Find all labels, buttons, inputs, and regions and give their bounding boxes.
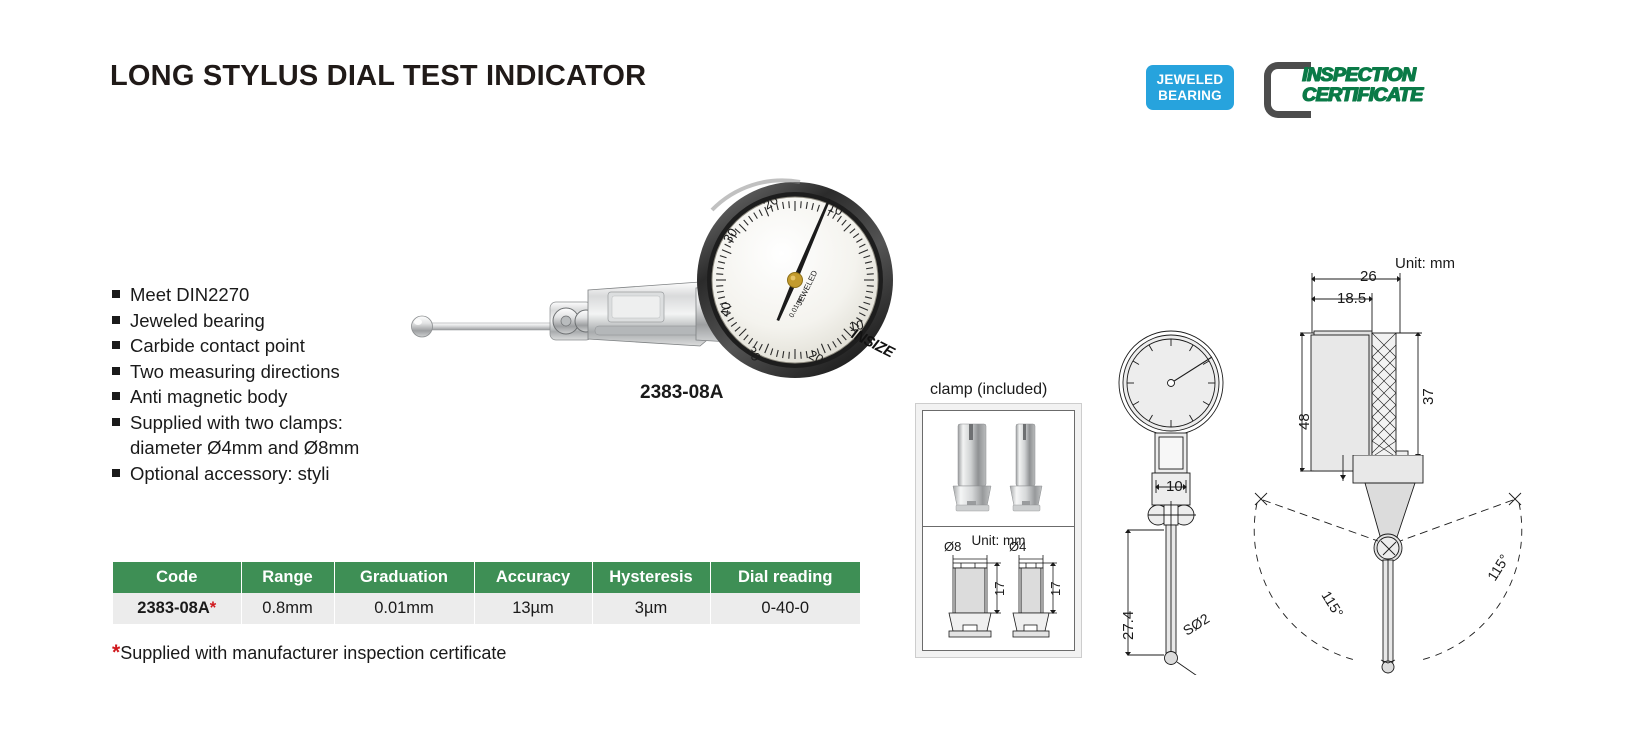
square-bullet-icon <box>112 418 120 426</box>
clamp-left-diameter-label: Ø8 <box>944 539 961 554</box>
clamp-photos <box>923 413 1076 526</box>
footnote: *Supplied with manufacturer inspection c… <box>112 641 506 665</box>
list-item: Optional accessory: styli <box>112 461 359 487</box>
column-header-dial-reading: Dial reading <box>710 562 860 593</box>
list-item: Anti magnetic body <box>112 384 359 410</box>
list-item: Jeweled bearing <box>112 308 359 334</box>
dim-stylus-length-label: 27.4 <box>1120 611 1137 640</box>
clamp-panel-label: clamp (included) <box>930 381 1047 399</box>
certificate-line2: CERTIFICATE <box>1302 86 1423 106</box>
specification-table: Code Range Graduation Accuracy Hysteresi… <box>113 562 860 624</box>
dim-width-body-label: 18.5 <box>1337 290 1366 307</box>
list-item: Supplied with two clamps: diameter Ø4mm … <box>112 410 359 461</box>
dim-stem-width-label: 10 <box>1166 478 1183 495</box>
dim-height-body-label: 48 <box>1296 413 1313 430</box>
jeweled-bearing-badge: JEWELED BEARING <box>1146 65 1234 110</box>
column-header-graduation: Graduation <box>334 562 474 593</box>
clamp-panel-divider <box>923 526 1074 527</box>
column-header-accuracy: Accuracy <box>474 562 592 593</box>
certificate-line1: INSPECTION <box>1302 66 1423 86</box>
product-caption: 2383-08A <box>640 382 723 404</box>
clamp-panel: Unit: mm <box>915 403 1082 658</box>
square-bullet-icon <box>112 316 120 324</box>
feature-text: Jeweled bearing <box>130 308 265 334</box>
feature-text: Carbide contact point <box>130 333 305 359</box>
cell-code: 2383-08A* <box>113 593 241 624</box>
jeweled-badge-line1: JEWELED <box>1157 72 1224 88</box>
jeweled-badge-line2: BEARING <box>1158 88 1222 104</box>
square-bullet-icon <box>112 469 120 477</box>
square-bullet-icon <box>112 367 120 375</box>
dim-bezel-thickness-label: 37 <box>1420 388 1437 405</box>
square-bullet-icon <box>112 392 120 400</box>
clamp-right-diameter-label: Ø4 <box>1009 539 1026 554</box>
cell-range: 0.8mm <box>241 593 334 624</box>
feature-text: Meet DIN2270 <box>130 282 249 308</box>
cell-hysteresis: 3µm <box>592 593 710 624</box>
list-item: Meet DIN2270 <box>112 282 359 308</box>
cell-code-value: 2383-08A <box>137 599 209 617</box>
list-item: Two measuring directions <box>112 359 359 385</box>
cell-code-asterisk: * <box>210 599 216 617</box>
feature-text: Supplied with two clamps: diameter Ø4mm … <box>130 410 359 461</box>
clamp-left-height-label: 17 <box>992 582 1007 596</box>
table-row: 2383-08A* 0.8mm 0.01mm 13µm 3µm 0-40-0 <box>113 593 860 624</box>
list-item: Carbide contact point <box>112 333 359 359</box>
square-bullet-icon <box>112 290 120 298</box>
feature-text: Anti magnetic body <box>130 384 287 410</box>
feature-list: Meet DIN2270 Jeweled bearing Carbide con… <box>112 282 359 486</box>
feature-text: Two measuring directions <box>130 359 340 385</box>
clamp-dimension-drawings <box>923 551 1076 653</box>
column-header-code: Code <box>113 562 241 593</box>
angular-range-drawing <box>1235 455 1525 690</box>
certificate-text: INSPECTION CERTIFICATE <box>1302 66 1423 106</box>
page-title: LONG STYLUS DIAL TEST INDICATOR <box>110 60 646 93</box>
inspection-certificate-badge: INSPECTION CERTIFICATE <box>1262 60 1492 122</box>
column-header-range: Range <box>241 562 334 593</box>
certificate-bracket-icon <box>1264 62 1304 118</box>
square-bullet-icon <box>112 341 120 349</box>
table-header-row: Code Range Graduation Accuracy Hysteresi… <box>113 562 860 593</box>
footnote-asterisk: * <box>112 641 120 664</box>
dim-width-total-label: 26 <box>1360 268 1377 285</box>
footnote-text: Supplied with manufacturer inspection ce… <box>120 643 506 663</box>
clamp-right-height-label: 17 <box>1048 582 1063 596</box>
clamp-panel-inner: Unit: mm <box>922 410 1075 651</box>
cell-graduation: 0.01mm <box>334 593 474 624</box>
column-header-hysteresis: Hysteresis <box>592 562 710 593</box>
cell-accuracy: 13µm <box>474 593 592 624</box>
feature-text: Optional accessory: styli <box>130 461 329 487</box>
cell-dial-reading: 0-40-0 <box>710 593 860 624</box>
product-photo: 20 10 30 40 30 20 10 JEWELED 0.01mm INSI… <box>400 140 920 400</box>
svg-text:40: 40 <box>717 302 733 318</box>
